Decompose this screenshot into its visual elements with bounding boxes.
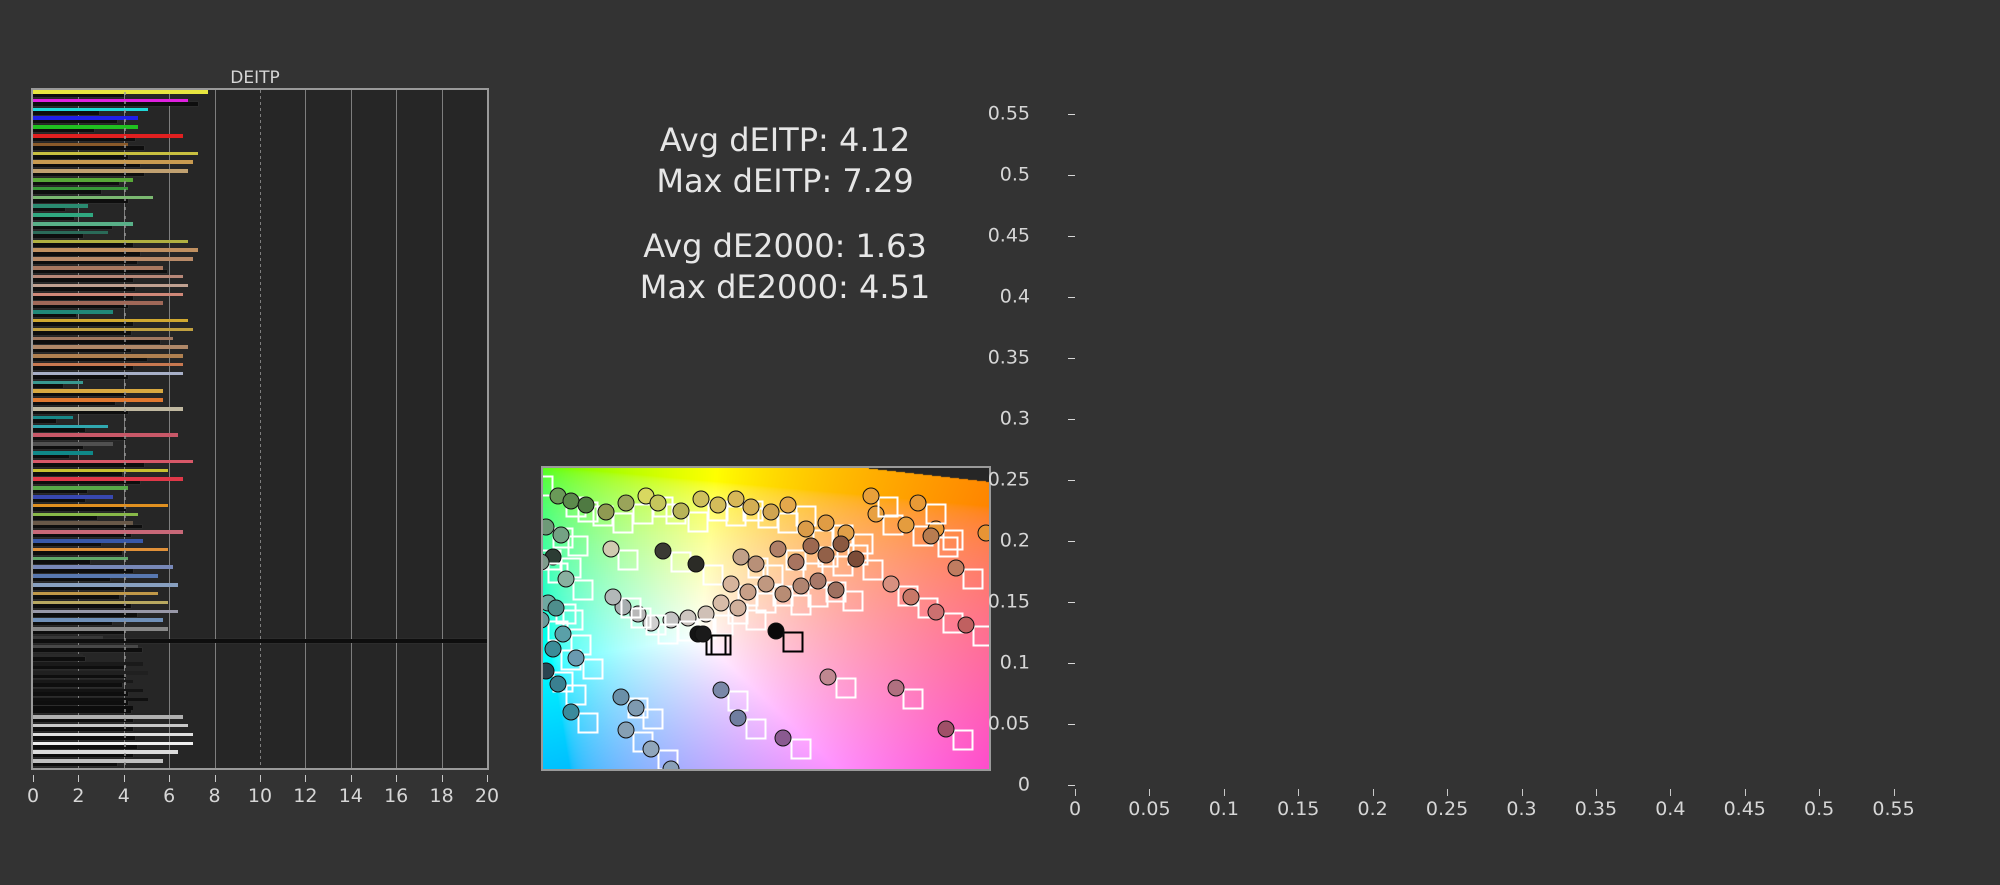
inset-measured-point [555, 626, 572, 643]
de2000-bar [33, 583, 178, 587]
de2000-bar [33, 460, 193, 464]
deitp-bar [33, 622, 112, 626]
deitp-bar-chart-panel: DEITP 02468101214161820 [0, 0, 510, 885]
bar-row-tick [124, 339, 126, 342]
inset-target-square [878, 496, 899, 517]
deitp-bar [33, 675, 126, 679]
inset-measured-point [550, 676, 567, 693]
cie-x-tick: 0.1 [1209, 800, 1239, 819]
cie-diagram-panel: CIE 1976 u'v' 00.050.10.150.20.250.30.35… [1040, 0, 2000, 885]
de2000-bar [33, 213, 93, 217]
bar-row-tick [124, 647, 126, 650]
cie-y-tick: 0 [0, 776, 1030, 795]
inset-measured-point [817, 515, 834, 532]
cie-y-tickmark [1068, 419, 1075, 420]
de2000-bar [33, 222, 133, 226]
deitp-bar [33, 569, 133, 573]
de2000-bar [33, 266, 163, 270]
bar-row-tick [124, 559, 126, 562]
inset-measured-point [947, 559, 964, 576]
inset-target-square [963, 568, 984, 589]
bar-row-tick [124, 198, 126, 201]
deitp-bar [33, 683, 122, 687]
cie-y-tickmark [1068, 358, 1075, 359]
de2000-bar [33, 152, 198, 156]
bar-row-tick [124, 682, 126, 685]
deitp-bar [33, 745, 137, 749]
bar-row-tick [124, 313, 126, 316]
bar-row-tick [124, 621, 126, 624]
bar-row-tick [124, 577, 126, 580]
de2000-bar [33, 143, 128, 147]
cie-x-tick: 0.3 [1506, 800, 1536, 819]
bar-row-tick [124, 550, 126, 553]
cie-y-tick: 0.2 [0, 531, 1030, 550]
de2000-bar [33, 337, 173, 341]
deitp-bar [33, 490, 87, 494]
de2000-bar [33, 698, 148, 702]
avg-deitp-text: Avg dEITP: 4.12 [560, 120, 1010, 161]
deitp-bar [33, 587, 124, 591]
deitp-bar [33, 578, 110, 582]
de2000-bar [33, 275, 183, 279]
de2000-bar [33, 319, 188, 323]
de2000-bar [33, 504, 168, 508]
cie-y-tickmark [1068, 663, 1075, 664]
deitp-bar [33, 208, 65, 212]
cie-y-tick: 0.35 [0, 348, 1030, 367]
cie-x-tick: 0.35 [1575, 800, 1617, 819]
inset-measured-point [710, 496, 727, 513]
cie-y-tickmark [1068, 114, 1075, 115]
inset-target-square [618, 550, 639, 571]
bar-row-tick [124, 497, 126, 500]
de2000-bar [33, 680, 133, 684]
bar-row-tick [124, 735, 126, 738]
de2000-bar [33, 689, 143, 693]
de2000-bar [33, 521, 133, 525]
inset-measured-point [692, 491, 709, 508]
inset-measured-point [612, 689, 629, 706]
inset-measured-point [642, 740, 659, 757]
de2000-bar [33, 248, 198, 252]
deitp-bar [33, 384, 63, 388]
bar-row-tick [124, 453, 126, 456]
deitp-bar [33, 138, 135, 142]
deitp-bar [33, 455, 69, 459]
bar-row-tick [124, 445, 126, 448]
de2000-bar [33, 759, 163, 763]
inset-measured-point [882, 576, 899, 593]
bar-row-tick [124, 401, 126, 404]
inset-target-square [783, 631, 804, 652]
bar-row-tick [124, 207, 126, 210]
bar-row-tick [124, 630, 126, 633]
cie-x-tick: 0.5 [1804, 800, 1834, 819]
deitp-bar [33, 710, 131, 714]
bar-row-tick [124, 709, 126, 712]
inset-measured-point [577, 496, 594, 513]
bar-chart-title: DEITP [0, 68, 510, 88]
deitp-bar [33, 507, 126, 511]
bar-row-tick [124, 330, 126, 333]
bar-row-tick [124, 762, 126, 765]
cie-x-tickmark [1670, 789, 1671, 796]
inset-target-square [925, 504, 946, 525]
cie-x-tick: 0.25 [1426, 800, 1468, 819]
de2000-bar [33, 125, 138, 129]
deitp-bar [33, 278, 133, 282]
inset-target-square [703, 565, 724, 586]
bar-row-tick [124, 691, 126, 694]
bar-row-tick [124, 383, 126, 386]
deitp-bar [33, 261, 137, 265]
bar-row-tick [124, 524, 126, 527]
deitp-bar [33, 763, 117, 767]
cie-y-tick: 0.55 [0, 104, 1030, 123]
de2000-bar [33, 495, 113, 499]
inset-measured-point [762, 504, 779, 521]
cie-x-tick: 0 [1069, 800, 1081, 819]
de2000-bar [33, 398, 163, 402]
bar-row-tick [124, 128, 126, 131]
de2000-bar [33, 618, 163, 622]
cie-x-tickmark [1373, 789, 1374, 796]
de2000-bar [33, 742, 193, 746]
cie-x-tickmark [1596, 789, 1597, 796]
bar-row-tick [124, 462, 126, 465]
de2000-bar [33, 451, 93, 455]
inset-measured-point [650, 495, 667, 512]
inset-target-square [973, 626, 992, 647]
deitp-bar [33, 754, 133, 758]
cie-y-tick: 0.1 [0, 653, 1030, 672]
de2000-bar [33, 636, 103, 640]
bar-row-tick [124, 136, 126, 139]
de2000-bar [33, 574, 158, 578]
bar-row-tick [124, 251, 126, 254]
deitp-bar [33, 516, 97, 520]
de2000-bar [33, 310, 113, 314]
bar-row-tick [124, 92, 126, 95]
deitp-bar [33, 314, 76, 318]
bar-row-tick [124, 586, 126, 589]
inset-measured-point [787, 554, 804, 571]
deitp-bar [33, 393, 126, 397]
cie-x-tick: 0.05 [1128, 800, 1170, 819]
bar-row-tick [124, 568, 126, 571]
de2000-bar [33, 99, 188, 103]
bar-row-tick [124, 744, 126, 747]
deitp-bar [33, 129, 94, 133]
inset-measured-point [757, 576, 774, 593]
cie-x-tickmark [1447, 789, 1448, 796]
cie-y-tickmark [1068, 785, 1075, 786]
inset-measured-point [617, 495, 634, 512]
inset-measured-point [557, 570, 574, 587]
inset-measured-point [672, 502, 689, 519]
deitp-bar [33, 155, 128, 159]
cie-y-tickmark [1068, 480, 1075, 481]
de2000-bar [33, 706, 133, 710]
cie-x-tick: 0.2 [1358, 800, 1388, 819]
inset-measured-point [780, 496, 797, 513]
stats-spacer [560, 202, 1010, 226]
inset-measured-point [987, 770, 991, 771]
cie-x-tick: 0.55 [1872, 800, 1914, 819]
cie-y-tickmark [1068, 297, 1075, 298]
inset-measured-point [747, 556, 764, 573]
deitp-bar [33, 375, 128, 379]
inset-measured-point [687, 556, 704, 573]
cie-y-tickmark [1068, 236, 1075, 237]
bar-row-tick [124, 674, 126, 677]
cie-y-tick: 0.15 [0, 592, 1030, 611]
deitp-bar [33, 613, 137, 617]
de2000-bar [33, 557, 128, 561]
summary-statistics: Avg dEITP: 4.12 Max dEITP: 7.29 Avg dE20… [560, 120, 1010, 308]
deitp-bar [33, 551, 122, 555]
cie-y-tickmark [1068, 724, 1075, 725]
de2000-bar [33, 204, 88, 208]
bar-row-tick [124, 269, 126, 272]
inset-target-square [745, 609, 766, 630]
de2000-bar [33, 257, 193, 261]
cie-x-tickmark [1149, 789, 1150, 796]
inset-measured-point [847, 550, 864, 567]
bar-row-tick [124, 753, 126, 756]
deitp-bar [33, 322, 133, 326]
deitp-bar [33, 446, 83, 450]
bar-row-tick [124, 436, 126, 439]
inset-measured-point [887, 679, 904, 696]
cie-x-tickmark [1075, 789, 1076, 796]
cie-y-tick: 0.05 [0, 714, 1030, 733]
cie-y-tickmark [1068, 602, 1075, 603]
bar-row-tick [124, 506, 126, 509]
de2000-bar [33, 381, 83, 385]
inset-measured-point [957, 617, 974, 634]
inset-measured-point [597, 504, 614, 521]
inset-target-square [688, 511, 709, 532]
de2000-bar [33, 160, 193, 164]
deitp-bar [33, 631, 124, 635]
bar-row-tick [124, 515, 126, 518]
inset-measured-point [742, 498, 759, 515]
deitp-bar [33, 560, 90, 564]
deitp-bar [33, 199, 128, 203]
de2000-bar [33, 134, 183, 138]
cie-x-tick: 0.15 [1277, 800, 1319, 819]
de2000-bar [33, 196, 153, 200]
cie-y-tick: 0.25 [0, 470, 1030, 489]
cie-y-tick: 0.3 [0, 409, 1030, 428]
inset-measured-point [712, 681, 729, 698]
deitp-bar [33, 340, 160, 344]
de2000-bar [33, 389, 163, 393]
inset-measured-point [810, 572, 827, 589]
de2000-bar [33, 627, 168, 631]
inset-measured-point [662, 761, 679, 771]
bar-row-tick [124, 321, 126, 324]
inset-target-square [678, 770, 699, 771]
cie-x-tickmark [1745, 789, 1746, 796]
de2000-bar [33, 645, 138, 649]
deitp-bar [33, 94, 124, 98]
cie-x-tickmark [1298, 789, 1299, 796]
bar-row-tick [124, 700, 126, 703]
de2000-bar [33, 565, 173, 569]
bar-row-tick [124, 638, 126, 641]
bar-row-tick [124, 189, 126, 192]
deitp-bar [33, 701, 128, 705]
de2000-bar [33, 328, 193, 332]
deitp-bar [33, 692, 128, 696]
de2000-bar [33, 750, 178, 754]
de2000-bar [33, 372, 183, 376]
cie-x-tick: 0.45 [1724, 800, 1766, 819]
inset-target-square [790, 738, 811, 759]
cie-y-tickmark [1068, 541, 1075, 542]
bar-row-tick [124, 612, 126, 615]
inset-measured-point [910, 495, 927, 512]
cie-y-tick: 0.45 [0, 226, 1030, 245]
deitp-bar [33, 736, 135, 740]
cie-x-tickmark [1522, 789, 1523, 796]
inset-target-square [835, 677, 856, 698]
cie-y-tick: 0.4 [0, 287, 1030, 306]
deitp-bar [33, 270, 167, 274]
de2000-bar [33, 433, 178, 437]
deitp-bar [33, 217, 74, 221]
bar-row-tick [124, 216, 126, 219]
cie-x-tickmark [1894, 789, 1895, 796]
de2000-bar [33, 187, 128, 191]
deitp-bar [33, 428, 85, 432]
deitp-bar [33, 437, 126, 441]
deitp-bar [33, 402, 115, 406]
deitp-bar [33, 146, 144, 150]
deitp-bar [33, 190, 101, 194]
deitp-bar [33, 499, 85, 503]
cie-x-tickmark [1819, 789, 1820, 796]
de2000-bar [33, 513, 138, 517]
bar-row-tick [124, 374, 126, 377]
cie-x-tick: 0.4 [1655, 800, 1685, 819]
de2000-bar [33, 90, 208, 94]
cie-x-tickmark [1224, 789, 1225, 796]
cie-y-tick: 0.5 [0, 165, 1030, 184]
inset-measured-point [695, 626, 712, 643]
bar-row-tick [124, 260, 126, 263]
bar-row-tick [124, 277, 126, 280]
deitp-bar [33, 463, 144, 467]
deitp-bar [33, 331, 131, 335]
inset-measured-point [767, 622, 784, 639]
bar-row-tick [124, 154, 126, 157]
inset-measured-point [722, 576, 739, 593]
cie-y-tickmark [1068, 175, 1075, 176]
bar-row-tick [124, 145, 126, 148]
bar-row-tick [124, 392, 126, 395]
inset-measured-point [862, 487, 879, 504]
de2000-bar [33, 442, 113, 446]
deitp-bar [33, 639, 487, 643]
inset-target-square [903, 689, 924, 710]
inset-target-square [863, 559, 884, 580]
